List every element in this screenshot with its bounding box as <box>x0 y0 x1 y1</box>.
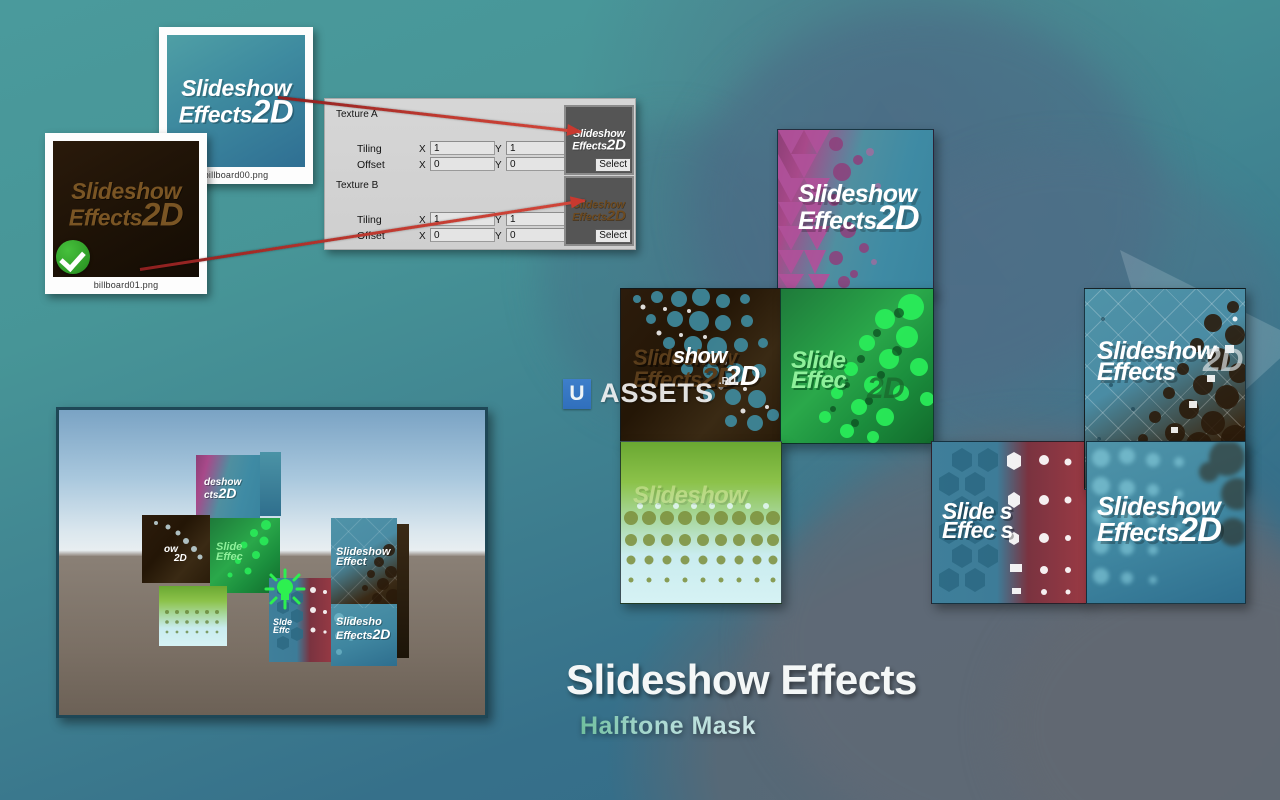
texture-a-offset-x-input[interactable]: 0 <box>430 157 495 171</box>
texture-b-section-label: Texture B <box>336 180 378 191</box>
texture-a-preview-slot[interactable]: Slideshow Effects2D Select <box>564 105 634 175</box>
unity-scene-preview[interactable]: deshowcts2D ow2D Slid <box>56 407 488 718</box>
preview-tile-cyan-blur[interactable]: Slideshow Effects2D <box>1086 441 1246 604</box>
preview-tile-cyan-red-hex[interactable]: Slide s Effec s <box>931 441 1088 604</box>
texture-a-tiling-y-input[interactable]: 1 <box>506 141 571 155</box>
scene-box-lime <box>159 586 227 646</box>
screenshot-stage: Slideshow Effects2D <box>0 0 1280 800</box>
texture-b-offset-x-input[interactable]: 0 <box>430 228 495 242</box>
preview-tile-green-circle[interactable]: Slide Effec 2D <box>780 288 934 444</box>
texture-a-tiling-x-input[interactable]: 1 <box>430 141 495 155</box>
light-bulb-icon <box>264 568 306 610</box>
texture-a-tiling-x-axis: X <box>419 144 426 155</box>
watermark-label: ASSETS <box>600 378 714 408</box>
scene-dot-grid <box>159 586 227 646</box>
texture-a-section-label: Texture A <box>336 109 378 120</box>
texture-b-offset-x-axis: X <box>419 231 426 242</box>
watermark-domain: .RU <box>719 376 736 387</box>
texture-a-offset-label: Offset <box>357 159 385 171</box>
texture-b-offset-y-input[interactable]: 0 <box>506 228 571 242</box>
tile-logo-line2: Effects2D <box>798 205 919 233</box>
texture-b-select-button[interactable]: Select <box>595 229 631 243</box>
texture-b-tiling-y-axis: Y <box>495 215 502 226</box>
scene-box-right: SlideshowEffect SlideshoEffects2D <box>331 518 409 666</box>
texture-a-tiling-label: Tiling <box>357 143 382 155</box>
texture-a-offset-x-axis: X <box>419 160 426 171</box>
texture-a-select-button[interactable]: Select <box>595 158 631 172</box>
texture-b-tiling-label: Tiling <box>357 214 382 226</box>
tile-logo-line2: Effects <box>1097 362 1215 383</box>
texture-a-offset-y-axis: Y <box>495 160 502 171</box>
billboard01-logo-line2: Effects2D <box>69 202 183 230</box>
check-icon <box>56 240 90 274</box>
tile-logo-line2: Effects2D <box>1097 517 1221 545</box>
tile-logo-suffix: 2D <box>1203 347 1243 373</box>
tile-logo-line2: Effec s <box>942 521 1013 540</box>
watermark: U ASSETS .RU <box>563 378 714 409</box>
tile-logo-line1: Slideshow <box>633 486 746 506</box>
tile-logo-line2: Effec <box>791 371 846 391</box>
tile-logo-suffix: 2D <box>867 377 904 402</box>
scene-halftone <box>142 515 280 593</box>
texture-a-offset-y-input[interactable]: 0 <box>506 157 571 171</box>
preview-tile-pink-triangle[interactable]: Slideshow Effects2D <box>777 129 934 295</box>
billboard01-preview: Slideshow Effects2D <box>53 141 199 277</box>
watermark-text: ASSETS .RU <box>600 378 714 409</box>
asset-thumbnail-billboard01[interactable]: Slideshow Effects2D billboard01.png <box>45 133 207 294</box>
billboard00-logo-line2: Effects2D <box>179 99 293 127</box>
billboard01-filename: billboard01.png <box>53 277 199 294</box>
texture-a-tiling-y-axis: Y <box>495 144 502 155</box>
scene-box-dark-green: ow2D SlideEffec <box>142 515 280 593</box>
page-subtitle: Halftone Mask <box>580 712 756 741</box>
page-title: Slideshow Effects <box>566 656 917 704</box>
preview-tile-lime-dot[interactable]: Slideshow <box>620 441 782 604</box>
watermark-badge: U <box>563 379 591 409</box>
preview-tile-dark-circle[interactable]: Slideshow Effects2D show 2D <box>620 288 782 444</box>
texture-b-preview-slot[interactable]: Slideshow Effects2D Select <box>564 176 634 246</box>
scene-halftone <box>331 518 397 666</box>
texture-b-tiling-y-input[interactable]: 1 <box>506 212 571 226</box>
texture-b-offset-y-axis: Y <box>495 231 502 242</box>
scene-box-pink: deshowcts2D <box>196 452 281 522</box>
dot-grid-pattern <box>621 442 781 603</box>
